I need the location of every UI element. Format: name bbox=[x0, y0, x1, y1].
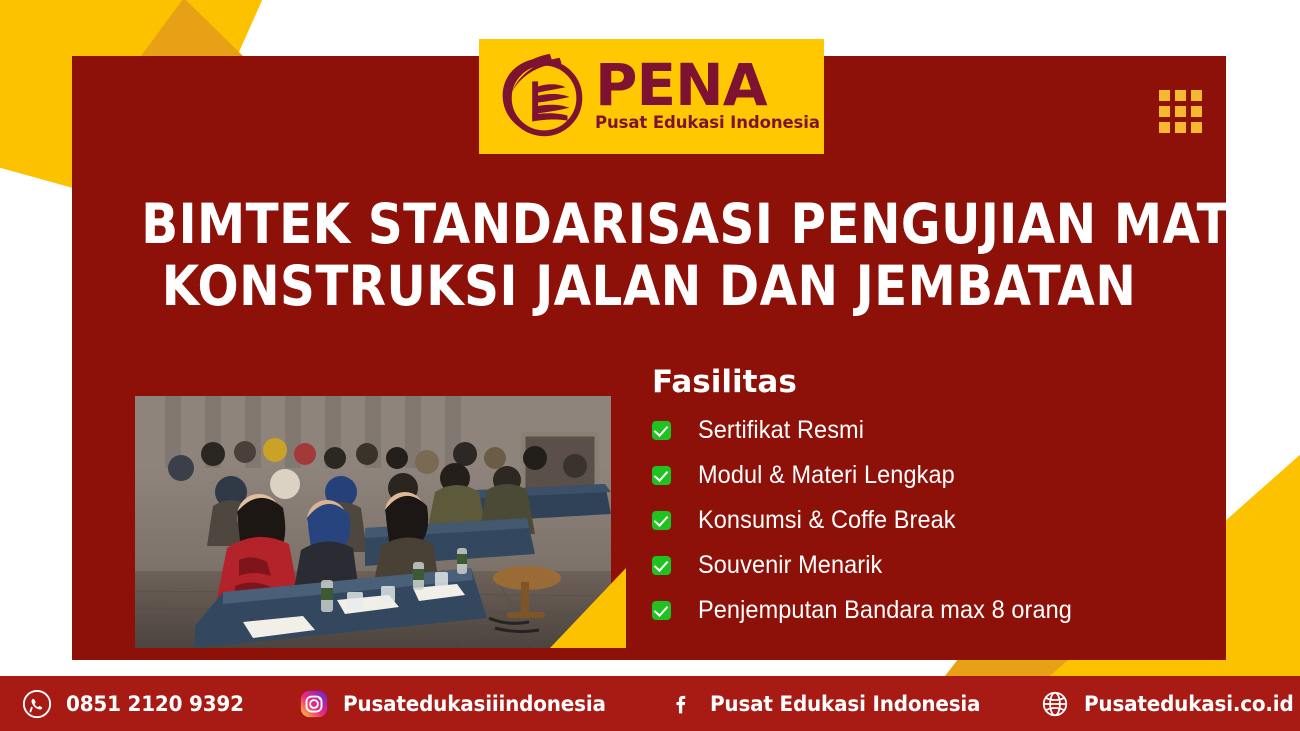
facility-item: Modul & Materi Lengkap bbox=[652, 461, 1172, 490]
facility-label: Sertifikat Resmi bbox=[698, 416, 864, 445]
headline-line-1: BIMTEK STANDARISASI PENGUJIAN MATERIAL bbox=[141, 194, 1157, 256]
promo-poster: P E N A Pusat Edukasi Indonesia BIMTEK S… bbox=[0, 0, 1300, 731]
check-icon bbox=[652, 511, 671, 530]
grid-dot bbox=[1191, 90, 1202, 101]
contact-footer-bar: 0851 2120 9392 bbox=[0, 676, 1300, 731]
page-title: BIMTEK STANDARISASI PENGUJIAN MATERIAL K… bbox=[141, 194, 1157, 317]
grid-dot bbox=[1159, 122, 1170, 133]
pena-feather-emblem-icon bbox=[493, 48, 591, 146]
check-icon bbox=[652, 421, 671, 440]
grid-dot bbox=[1175, 90, 1186, 101]
facebook-icon bbox=[666, 689, 696, 719]
contact-instagram[interactable]: Pusatedukasiiindonesia bbox=[299, 689, 620, 719]
grid-dot bbox=[1191, 106, 1202, 117]
instagram-handle: Pusatedukasiiindonesia bbox=[343, 692, 606, 716]
globe-icon bbox=[1040, 689, 1070, 719]
facility-label: Souvenir Menarik bbox=[698, 551, 882, 580]
brand-logo: P E N A Pusat Edukasi Indonesia bbox=[479, 39, 824, 154]
logo-letter-a: A bbox=[723, 61, 767, 111]
seminar-photo bbox=[135, 396, 611, 648]
whatsapp-number: 0851 2120 9392 bbox=[66, 692, 244, 716]
grid-dot bbox=[1159, 90, 1170, 101]
logo-word: P E N A bbox=[595, 61, 820, 111]
check-icon bbox=[652, 601, 671, 620]
website-url: Pusatedukasi.co.id bbox=[1084, 692, 1294, 716]
facilities-title: Fasilitas bbox=[652, 364, 1172, 400]
facility-item: Konsumsi & Coffe Break bbox=[652, 506, 1172, 535]
facility-item: Sertifikat Resmi bbox=[652, 416, 1172, 445]
facility-item: Penjemputan Bandara max 8 orang bbox=[652, 596, 1172, 625]
facility-item: Souvenir Menarik bbox=[652, 551, 1172, 580]
logo-wordmark: P E N A Pusat Edukasi Indonesia bbox=[595, 61, 820, 133]
contact-website[interactable]: Pusatedukasi.co.id bbox=[1040, 689, 1300, 719]
grid-dot bbox=[1159, 106, 1170, 117]
facility-label: Modul & Materi Lengkap bbox=[698, 461, 955, 490]
grid-dot bbox=[1175, 106, 1186, 117]
dot-grid-decoration bbox=[1159, 90, 1202, 133]
logo-letter-e: E bbox=[637, 61, 676, 111]
check-icon bbox=[652, 556, 671, 575]
facility-label: Penjemputan Bandara max 8 orang bbox=[698, 596, 1072, 625]
logo-letter-p: P bbox=[595, 61, 637, 111]
whatsapp-icon bbox=[22, 689, 52, 719]
check-icon bbox=[652, 466, 671, 485]
headline-line-2: KONSTRUKSI JALAN DAN JEMBATAN bbox=[141, 256, 1157, 318]
grid-dot bbox=[1175, 122, 1186, 133]
facility-label: Konsumsi & Coffe Break bbox=[698, 506, 956, 535]
main-red-panel: P E N A Pusat Edukasi Indonesia BIMTEK S… bbox=[72, 56, 1226, 660]
logo-letter-n: N bbox=[675, 61, 723, 111]
facebook-page-name: Pusat Edukasi Indonesia bbox=[710, 692, 980, 716]
contact-whatsapp[interactable]: 0851 2120 9392 bbox=[22, 689, 253, 719]
logo-tagline: Pusat Edukasi Indonesia bbox=[595, 113, 820, 132]
grid-dot bbox=[1191, 122, 1202, 133]
facilities-section: Fasilitas Sertifikat Resmi Modul & Mater… bbox=[652, 364, 1172, 641]
instagram-icon bbox=[299, 689, 329, 719]
contact-facebook[interactable]: Pusat Edukasi Indonesia bbox=[666, 689, 995, 719]
